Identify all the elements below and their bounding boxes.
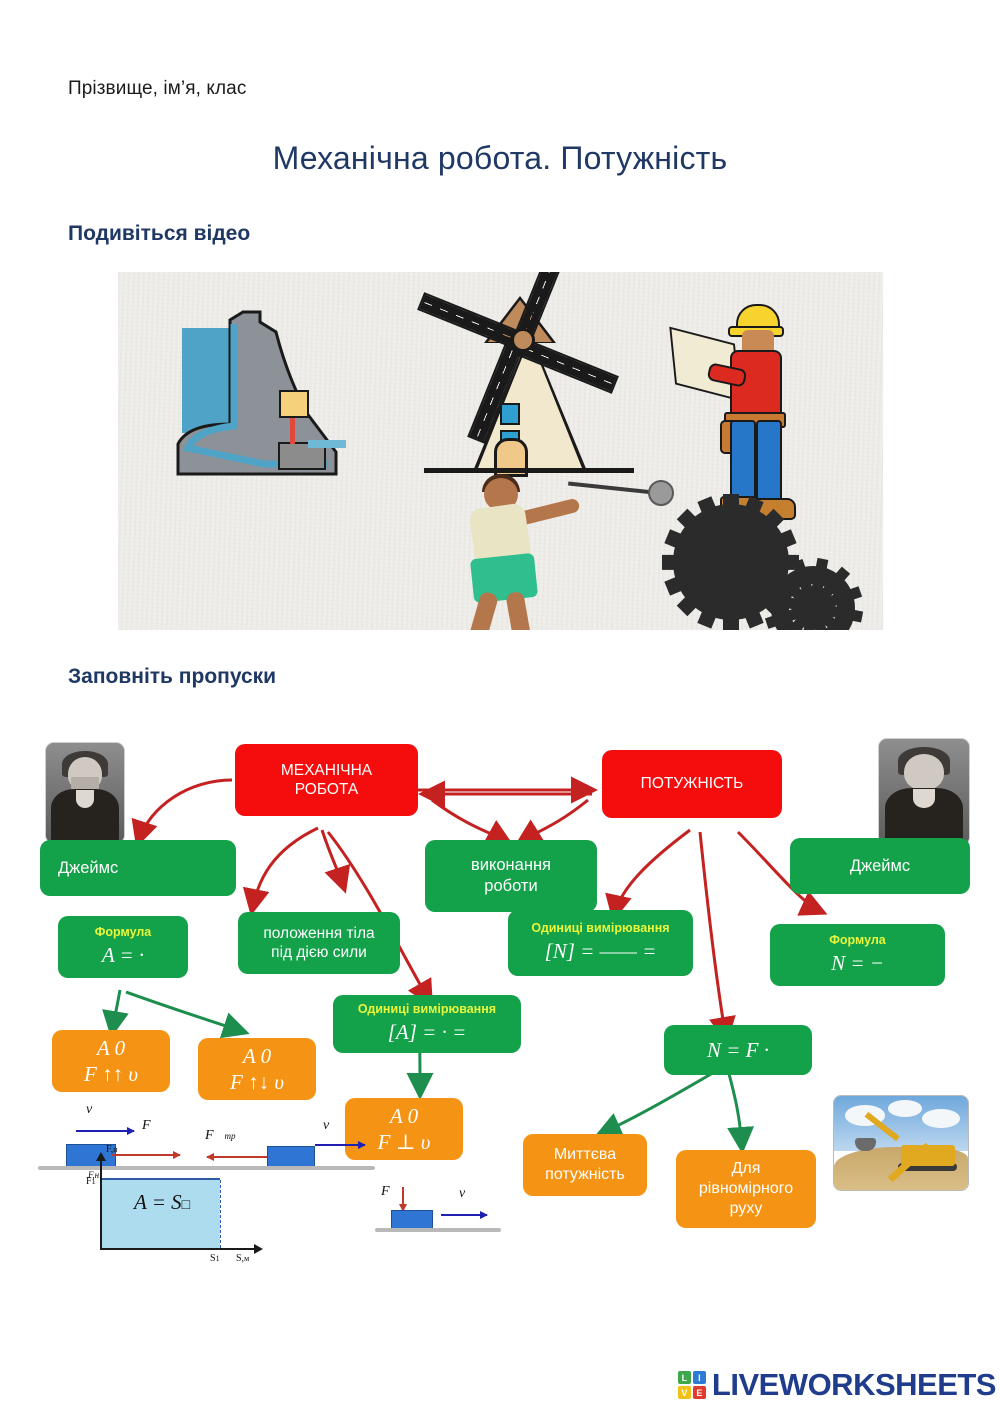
node-mechanical-work[interactable]: МЕХАНІЧНА РОБОТА (235, 744, 418, 816)
node-body-position[interactable]: положення тіла під дією сили (238, 912, 400, 974)
units-power-value: [N] = —— = (545, 938, 657, 964)
logo-wordmark: LIVEWORKSHEETS (712, 1367, 996, 1403)
node-james-watt[interactable]: Джеймс (790, 838, 970, 894)
formula-work-caption: Формула (95, 926, 152, 940)
student-name-line: Прізвище, ім’я, клас (68, 78, 246, 100)
chart-equation-sub: □ (182, 1198, 190, 1213)
windmill-illustration (418, 278, 648, 478)
hammer-thrower-illustration (448, 472, 688, 622)
node-formula-work[interactable]: Формула A = · (58, 916, 188, 978)
units-work-caption: Одиниці вимірювання (358, 1003, 496, 1017)
node-performing-work-line1: виконання (471, 855, 551, 876)
case2-line2: F ↑↓ υ (230, 1069, 284, 1095)
case3-line2: F ⊥ υ (378, 1129, 431, 1155)
uniform-line2: рівномірного (699, 1179, 793, 1199)
case3-line1: A 0 (390, 1103, 418, 1129)
node-case-force-along-velocity[interactable]: A 0 F ↑↑ υ (52, 1030, 170, 1092)
node-james-joule[interactable]: Джеймс (40, 840, 236, 896)
node-power[interactable]: ПОТУЖНІСТЬ (602, 750, 782, 818)
formula-power-value: N = − (831, 950, 884, 976)
watt-portrait (878, 738, 970, 846)
instant-power-line1: Миттєва (554, 1145, 616, 1165)
node-body-position-line2: під дією сили (271, 943, 367, 962)
node-mechanical-work-line1: МЕХАНІЧНА (281, 761, 372, 780)
node-james-right-label: Джеймс (850, 856, 910, 877)
joule-portrait (45, 742, 125, 844)
node-performing-work[interactable]: виконання роботи (425, 840, 597, 912)
section-heading-video: Подивіться відео (68, 222, 250, 246)
chart-equation: A = S (134, 1190, 182, 1214)
case1-line1: A 0 (97, 1035, 125, 1061)
sketch-force-perpendicular-velocity: F⃗ ν⃗ (375, 1182, 505, 1238)
construction-worker-illustration (678, 300, 878, 530)
node-uniform-motion[interactable]: Для рівномірного руху (676, 1150, 816, 1228)
video-thumbnail[interactable] (118, 272, 883, 630)
concept-map: МЕХАНІЧНА РОБОТА ПОТУЖНІСТЬ Джеймс викон… (0, 720, 1000, 1320)
section-heading-fill-blanks: Заповніть пропуски (68, 665, 276, 689)
node-case-force-against-velocity[interactable]: A 0 F ↑↓ υ (198, 1038, 316, 1100)
units-work-value: [A] = · = (388, 1019, 467, 1045)
liveworksheets-logo[interactable]: L I V E LIVEWORKSHEETS (678, 1367, 996, 1403)
units-power-caption: Одиниці вимірювання (531, 922, 669, 936)
node-power-label: ПОТУЖНІСТЬ (641, 774, 744, 793)
power-force-velocity-value: N = F · (707, 1037, 769, 1063)
force-displacement-chart: F,н F1 S1 S,м A = S□ (100, 1160, 255, 1250)
uniform-line3: руху (730, 1199, 763, 1219)
logo-tile-i: I (693, 1371, 706, 1384)
node-power-force-velocity[interactable]: N = F · (664, 1025, 812, 1075)
node-units-work[interactable]: Одиниці вимірювання [A] = · = (333, 995, 521, 1053)
gears-illustration (673, 504, 883, 630)
logo-tile-l: L (678, 1371, 691, 1384)
excavator-photo (833, 1095, 969, 1191)
node-formula-power[interactable]: Формула N = − (770, 924, 945, 986)
formula-work-value: A = · (102, 942, 144, 968)
uniform-line1: Для (732, 1159, 761, 1179)
logo-tiles: L I V E (678, 1371, 706, 1399)
case1-line2: F ↑↑ υ (84, 1061, 138, 1087)
logo-tile-e: E (693, 1386, 706, 1399)
instant-power-line2: потужність (545, 1165, 625, 1185)
page-title: Механічна робота. Потужність (0, 140, 1000, 177)
case2-line1: A 0 (243, 1043, 271, 1069)
node-mechanical-work-line2: РОБОТА (295, 780, 358, 799)
logo-tile-v: V (678, 1386, 691, 1399)
node-body-position-line1: положення тіла (263, 924, 374, 943)
node-instant-power[interactable]: Миттєва потужність (523, 1134, 647, 1196)
node-james-left-label: Джеймс (58, 858, 118, 879)
node-units-power[interactable]: Одиниці вимірювання [N] = —— = (508, 910, 693, 976)
piston-press-illustration (128, 462, 428, 612)
worksheet-page: Прізвище, ім’я, клас Механічна робота. П… (0, 0, 1000, 1413)
node-performing-work-line2: роботи (484, 876, 537, 897)
formula-power-caption: Формула (829, 934, 886, 948)
